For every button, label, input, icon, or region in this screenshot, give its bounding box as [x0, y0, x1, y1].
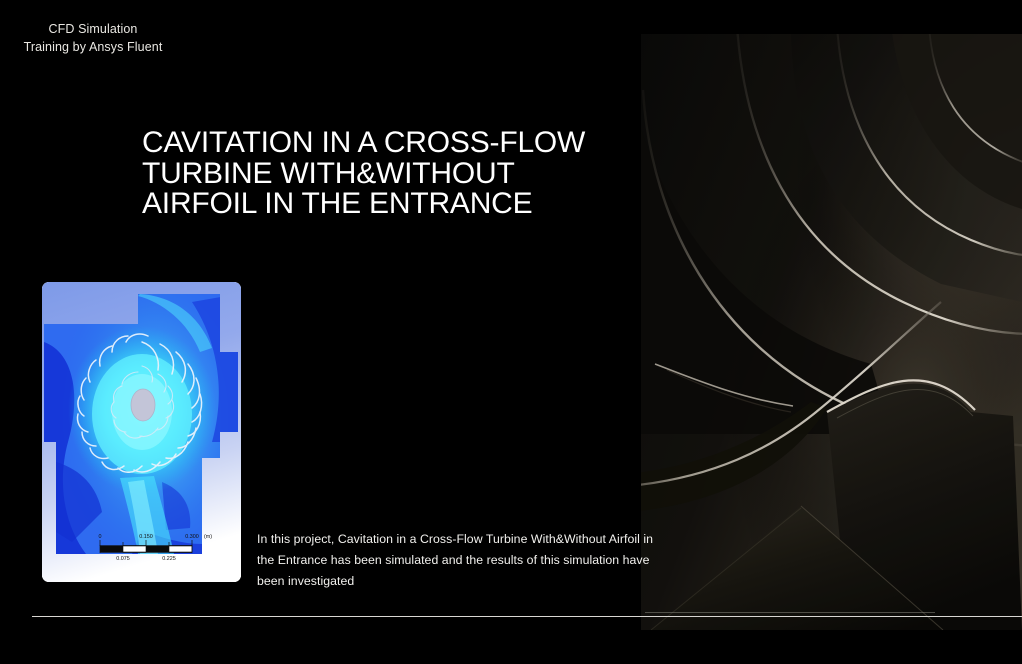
header-eyebrow: CFD Simulation Training by Ansys Fluent — [8, 20, 178, 56]
title-line-2: TURBINE WITH&WITHOUT — [142, 159, 612, 190]
bottom-divider — [32, 616, 1022, 617]
cfd-contour-figure: 0 0.150 0.300 (m) 0.075 0.225 — [42, 282, 241, 582]
body-paragraph: In this project, Cavitation in a Cross-F… — [257, 529, 685, 592]
header-line-1: CFD Simulation — [8, 20, 178, 38]
turbine-blade-photograph — [641, 34, 1022, 630]
svg-text:(m): (m) — [204, 534, 212, 540]
title-line-3: AIRFOIL IN THE ENTRANCE — [142, 189, 612, 220]
body-line-1: In this project, Cavitation in a Cross-F… — [257, 529, 685, 550]
svg-text:0.075: 0.075 — [116, 556, 130, 562]
page-title: CAVITATION IN A CROSS-FLOW TURBINE WITH&… — [142, 128, 612, 220]
svg-text:0.225: 0.225 — [162, 556, 176, 562]
title-line-1: CAVITATION IN A CROSS-FLOW — [142, 128, 612, 159]
body-line-2: the Entrance has been simulated and the … — [257, 550, 685, 571]
slide-root: CFD Simulation Training by Ansys Fluent … — [0, 0, 1022, 664]
svg-text:0.150: 0.150 — [139, 534, 153, 540]
body-line-3: been investigated — [257, 571, 685, 592]
svg-text:0.300: 0.300 — [185, 534, 199, 540]
svg-text:0: 0 — [99, 534, 102, 540]
header-line-2: Training by Ansys Fluent — [8, 38, 178, 56]
